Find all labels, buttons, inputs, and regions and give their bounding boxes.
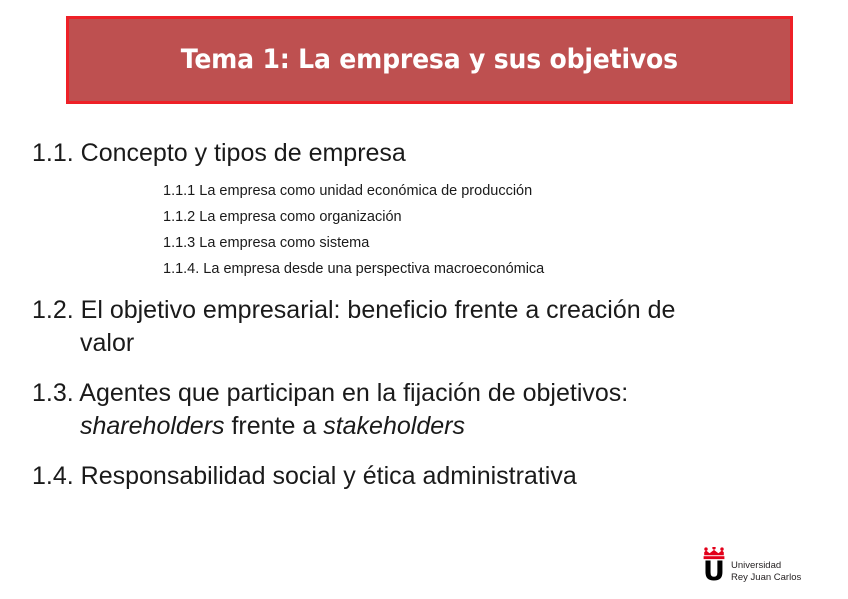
spacer [0, 361, 848, 378]
outline-subitem-1-1-4: 1.1.4. La empresa desde una perspectiva … [0, 256, 848, 282]
spacer [0, 171, 848, 178]
outline-item-1-2-line-2: valor [0, 328, 848, 359]
outline-item-1-4: 1.4. Responsabilidad social y ética admi… [0, 461, 848, 492]
logo-line-rey-juan-carlos: Rey Juan Carlos [731, 572, 801, 584]
slide-title: Tema 1: La empresa y sus objetivos [181, 46, 678, 73]
outline-subitem-1-1-2: 1.1.2 La empresa como organización [0, 204, 848, 230]
outline-subitem-1-1-1: 1.1.1 La empresa como unidad económica d… [0, 178, 848, 204]
slide-title-banner: Tema 1: La empresa y sus objetivos [66, 16, 793, 104]
spacer [0, 282, 848, 295]
connector-frente-a: frente a [225, 412, 324, 440]
term-shareholders: shareholders [80, 412, 225, 440]
outline-item-1-3-line-1: 1.3. Agentes que participan en la fijaci… [0, 378, 848, 409]
outline-subitem-1-1-3: 1.1.3 La empresa como sistema [0, 230, 848, 256]
term-stakeholders: stakeholders [323, 412, 465, 440]
outline-content: 1.1. Concepto y tipos de empresa 1.1.1 L… [0, 138, 848, 494]
outline-item-1-2-line-1: 1.2. El objetivo empresarial: beneficio … [0, 295, 848, 326]
logo-wordmark: Universidad Rey Juan Carlos [731, 560, 801, 585]
logo-line-universidad: Universidad [731, 560, 801, 572]
outline-item-1-3: 1.3. Agentes que participan en la fijaci… [0, 378, 848, 442]
logo-letter-u: U [702, 558, 726, 585]
urjc-logo: U Universidad Rey Juan Carlos [702, 541, 812, 585]
outline-item-1-2: 1.2. El objetivo empresarial: beneficio … [0, 295, 848, 359]
outline-item-1-3-line-2: shareholders frente a stakeholders [0, 411, 848, 442]
slide-canvas: Tema 1: La empresa y sus objetivos 1.1. … [0, 0, 848, 599]
spacer [0, 444, 848, 461]
outline-item-1-1: 1.1. Concepto y tipos de empresa [0, 138, 848, 169]
logo-mark: U [702, 545, 726, 585]
